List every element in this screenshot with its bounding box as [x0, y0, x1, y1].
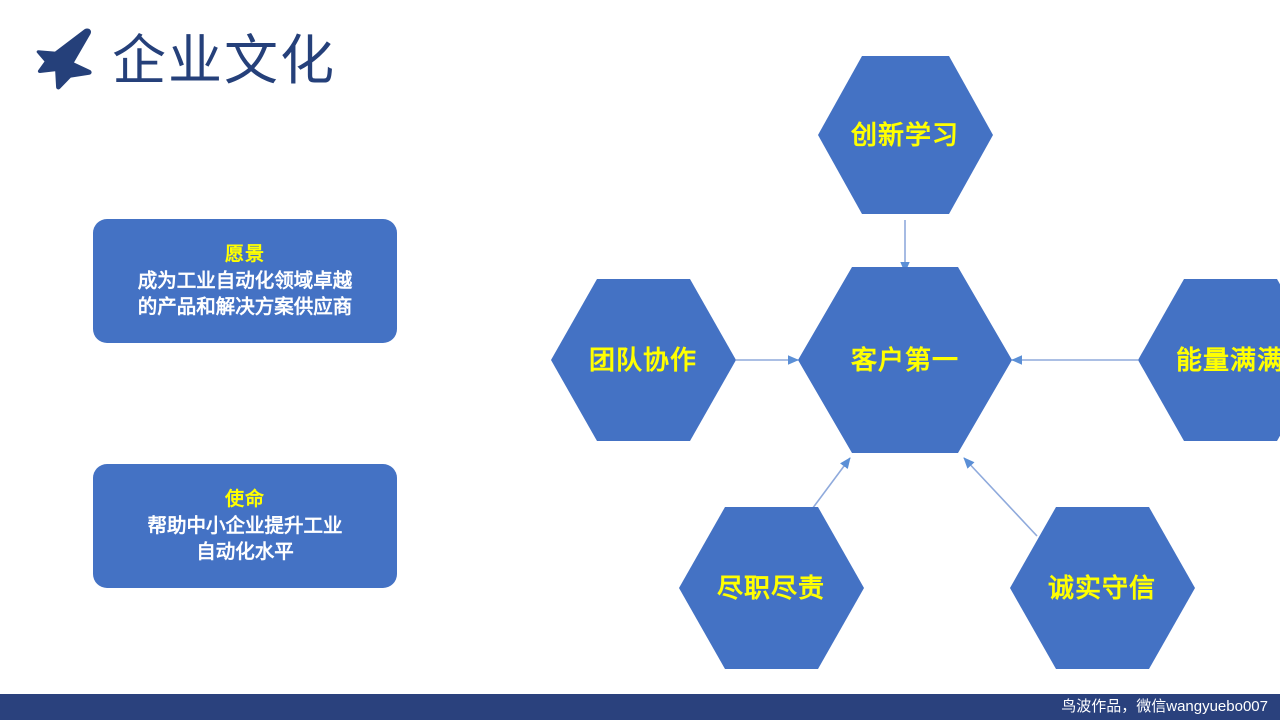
card-vision-title: 愿景 [97, 242, 393, 268]
hex-bottom-right-label: 诚实守信 [1048, 573, 1156, 603]
card-vision: 愿景 成为工业自动化领域卓越 的产品和解决方案供应商 [93, 219, 397, 343]
hex-node-right[interactable]: 能量满满 [1138, 279, 1280, 441]
slide-header: 企业文化 [0, 0, 520, 120]
connector-bottomright-to-center [964, 458, 1037, 536]
hex-top-label: 创新学习 [850, 120, 959, 150]
slide-canvas: 企业文化 愿景 成为工业自动化领域卓越 的产品和解决方案供应商 使命 帮助中小企… [0, 0, 1280, 720]
hex-node-bottom-left[interactable]: 尽职尽责 [679, 507, 864, 669]
hex-node-bottom-right[interactable]: 诚实守信 [1010, 507, 1195, 669]
hex-node-left[interactable]: 团队协作 [551, 279, 736, 441]
footer-bar: 鸟波作品，微信wangyuebo007 [0, 694, 1280, 720]
hex-node-top[interactable]: 创新学习 [818, 56, 993, 214]
card-mission-body: 帮助中小企业提升工业 自动化水平 [97, 513, 393, 565]
card-mission: 使命 帮助中小企业提升工业 自动化水平 [93, 464, 397, 588]
hex-center-label: 客户第一 [851, 345, 959, 375]
page-title: 企业文化 [112, 24, 336, 98]
hex-node-center[interactable]: 客户第一 [798, 267, 1012, 453]
card-mission-title: 使命 [97, 487, 393, 513]
hex-left-label: 团队协作 [589, 345, 697, 375]
airplane-icon [22, 26, 98, 92]
hex-bottom-left-label: 尽职尽责 [717, 573, 825, 603]
culture-hex-diagram: 创新学习 团队协作 能量满满 尽职尽责 诚实守信 [500, 20, 1280, 700]
card-vision-body: 成为工业自动化领域卓越 的产品和解决方案供应商 [97, 268, 393, 320]
footer-credit-text: 鸟波作品，微信wangyuebo007 [1061, 694, 1268, 720]
hex-right-label: 能量满满 [1176, 345, 1280, 375]
